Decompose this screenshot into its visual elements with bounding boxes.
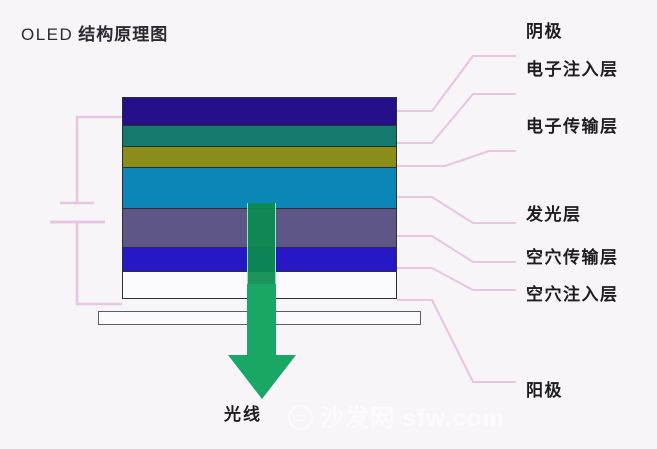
label-hole-injection-layer: 空穴注入层 (526, 280, 619, 305)
layer-electron-transport-layer (122, 146, 397, 167)
label-light-beam: 光线 (224, 400, 262, 425)
label-hole-transport-layer: 空穴传输层 (526, 243, 619, 268)
layer-emissive-layer (122, 167, 397, 208)
layer-cathode (122, 97, 397, 125)
leader-line-cathode (397, 56, 516, 111)
leader-lines (397, 56, 516, 382)
leader-line-electron-injection-layer (397, 94, 516, 143)
label-electron-injection-layer: 电子注入层 (526, 55, 619, 80)
leader-line-emissive-layer (397, 197, 516, 223)
oled-diagram-canvas: OLED结构原理图 (0, 0, 657, 449)
label-electron-transport-layer: 电子传输层 (526, 112, 619, 137)
battery-wire-bottom (77, 222, 122, 304)
light-beam-shaft (247, 284, 276, 357)
leader-line-hole-transport-layer (397, 236, 516, 262)
label-anode: 阳极 (526, 376, 563, 401)
light-beam-arrowhead (228, 355, 296, 399)
battery-wire-top (77, 117, 122, 203)
label-cathode: 阴极 (526, 17, 563, 42)
leader-line-electron-transport-layer (397, 151, 516, 166)
leader-line-hole-injection-layer (397, 268, 516, 290)
light-beam-inside-stack (247, 203, 276, 284)
layer-electron-injection-layer (122, 125, 397, 146)
dc-power-source (50, 117, 122, 304)
label-emissive-layer: 发光层 (526, 200, 582, 225)
